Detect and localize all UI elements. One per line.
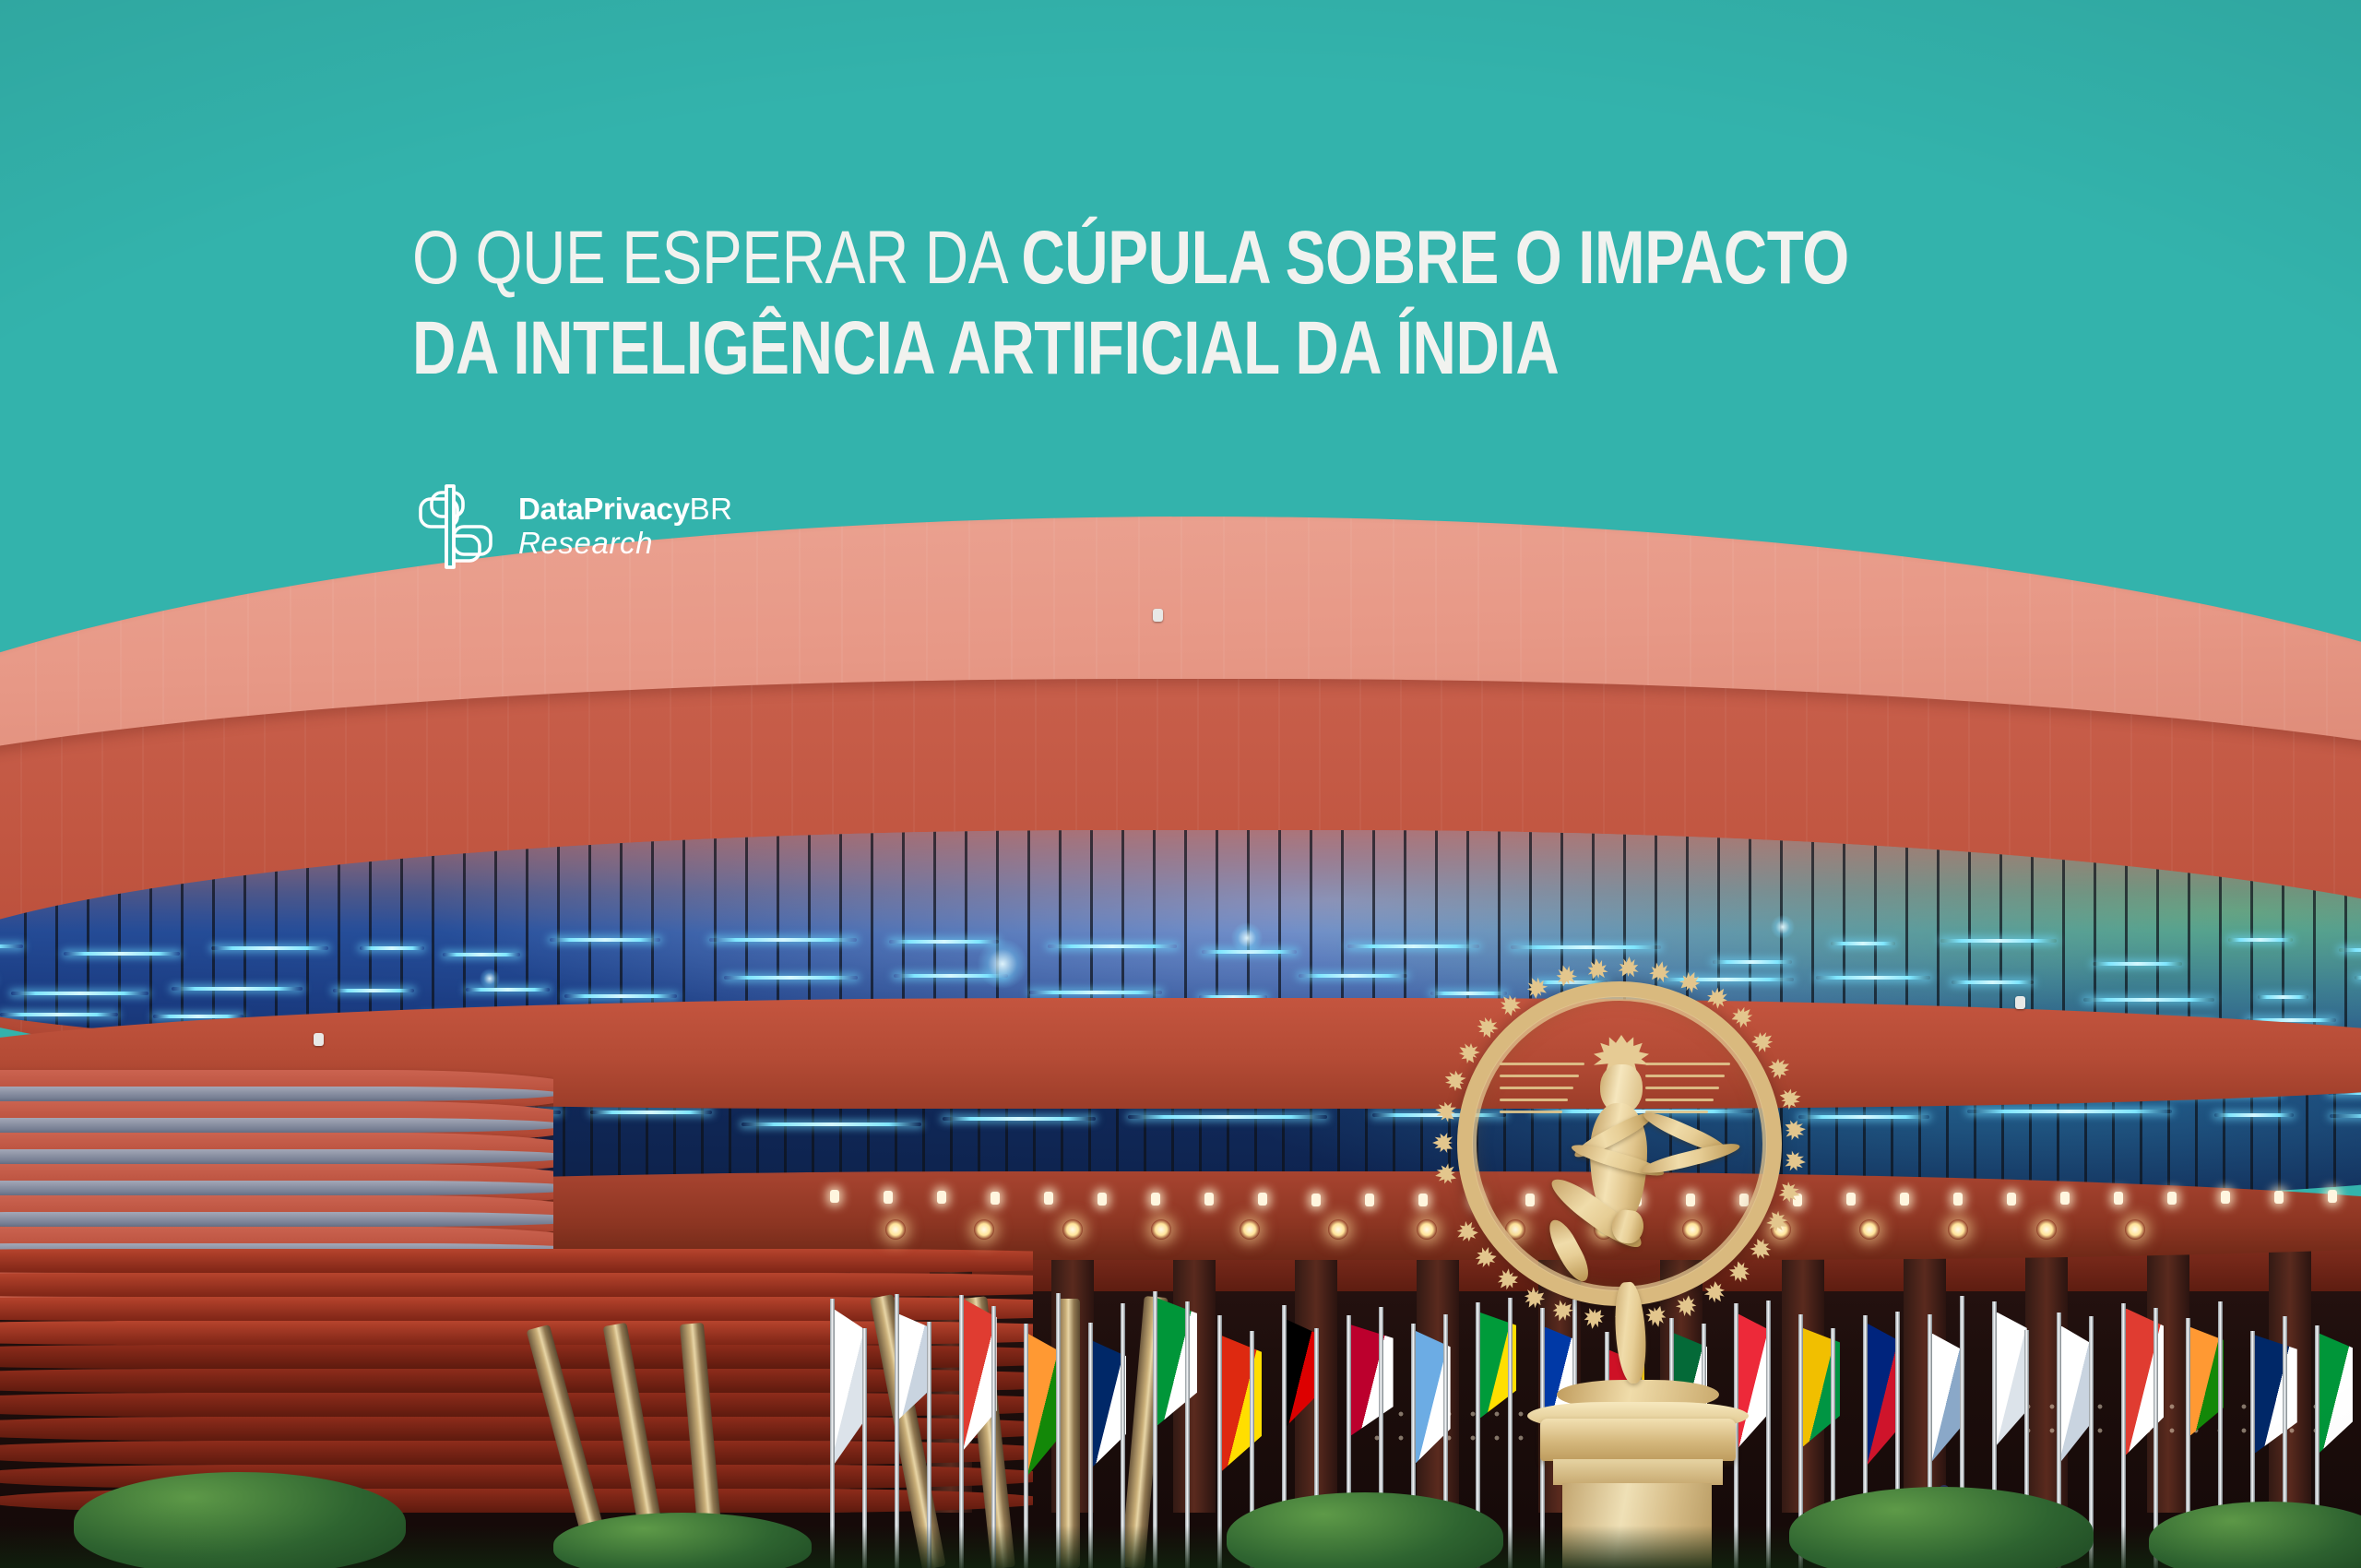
nose-glazing-slit [0, 1181, 553, 1195]
halo-flame [1553, 962, 1579, 988]
plaza-downlight [2125, 1219, 2145, 1240]
halo-flame [1441, 1067, 1466, 1093]
glass-led-strip [2093, 962, 2182, 966]
nose-glazing-slit [0, 1149, 553, 1164]
eave-light [2167, 1192, 2177, 1205]
page-title-line-2: DA INTELIGÊNCIA ARTIFICIAL DA ÍNDIA [412, 310, 1740, 387]
nose-glazing-slit [0, 1118, 553, 1133]
halo-flame [1677, 968, 1703, 995]
glass-led-strip [1048, 944, 1177, 948]
national-flag [2319, 1334, 2353, 1453]
statue-hair-strand [1645, 1063, 1730, 1065]
glass-led-strip [889, 940, 999, 944]
glass-led-strip [1816, 976, 1931, 980]
glass-led-strip [1940, 939, 2057, 943]
eave-light [1097, 1193, 1107, 1206]
halo-flame [1644, 1305, 1668, 1329]
glass-specular-highlight [1231, 922, 1263, 954]
glass-specular-highlight [1771, 915, 1795, 939]
glass-led-strip [1952, 980, 2034, 984]
halo-flame [1748, 1235, 1776, 1264]
halo-flame [1785, 1150, 1807, 1172]
statue-hair-strand [1645, 1099, 1714, 1101]
glass-led-strip [1029, 991, 1163, 994]
foreground-shrub [74, 1472, 406, 1568]
plaza-downlight [974, 1219, 994, 1240]
national-flag [1028, 1334, 1059, 1475]
eave-light [1846, 1193, 1856, 1206]
halo-flame [1702, 1278, 1729, 1306]
statue-pedestal-middle [1553, 1459, 1723, 1485]
eave-light [1204, 1193, 1214, 1206]
halo-flame [1432, 1133, 1453, 1153]
glass-led-strip [1347, 944, 1478, 948]
statue-hair-strand [1645, 1075, 1725, 1077]
eave-light [1311, 1194, 1321, 1206]
halo-flame [1726, 1259, 1754, 1288]
national-flag [2126, 1309, 2164, 1455]
logo-word-dataprivacy: DataPrivacy [518, 492, 690, 526]
halo-flame [1786, 1119, 1808, 1141]
plaza-downlight [1328, 1219, 1348, 1240]
nataraja-statue [1431, 963, 1828, 1568]
eave-light [2060, 1192, 2070, 1205]
national-flag [899, 1314, 928, 1420]
eave-light [884, 1191, 893, 1204]
roof-fixture [2015, 996, 2025, 1009]
nose-glazing-slit [0, 1212, 553, 1227]
glass-led-strip [2355, 976, 2361, 980]
glass-led-strip [2330, 1114, 2361, 1118]
dataprivacybr-mark-icon [417, 482, 498, 571]
logo-wordmark-line-1: DataPrivacyBR [518, 493, 732, 525]
national-flag [1351, 1324, 1394, 1435]
halo-flame [1433, 1099, 1457, 1123]
glass-led-strip [2214, 1113, 2294, 1117]
glass-led-strip [709, 938, 857, 942]
logo-word-br: BR [690, 492, 733, 526]
halo-flame [1549, 1299, 1575, 1324]
halo-flame [1648, 959, 1672, 983]
halo-flame [1454, 1038, 1482, 1065]
glass-led-strip [1831, 942, 1896, 945]
eave-light [2328, 1190, 2337, 1203]
eave-light [991, 1192, 1000, 1205]
glass-led-strip [590, 1111, 711, 1114]
halo-flame [1493, 1266, 1522, 1295]
glass-led-strip [724, 976, 858, 980]
plaza-downlight [1948, 1219, 1968, 1240]
glass-led-strip [742, 1123, 921, 1126]
eave-light [937, 1191, 946, 1204]
plaza-downlight [1240, 1219, 1260, 1240]
statue-hair-strand [1500, 1111, 1562, 1113]
halo-flame [1453, 1218, 1480, 1246]
national-flag [1932, 1334, 1961, 1462]
national-flag [2255, 1335, 2297, 1453]
glass-led-strip [2258, 995, 2308, 999]
halo-flame [1674, 1294, 1701, 1321]
page-title-line-1: O QUE ESPERAR DA CÚPULA SOBRE O IMPACTO [412, 220, 1740, 297]
nose-glazing-slit [0, 1087, 553, 1101]
statue-pedestal-top [1540, 1419, 1736, 1461]
glass-led-strip [2228, 938, 2294, 942]
plaza-downlight [2036, 1219, 2057, 1240]
statue-hair-strand [1500, 1075, 1579, 1077]
statue-hair-strand [1500, 1087, 1573, 1089]
eave-light [1418, 1194, 1428, 1206]
national-flag [1868, 1324, 1899, 1465]
eave-light [1900, 1193, 1909, 1206]
eave-light [830, 1190, 839, 1203]
eave-light [1258, 1193, 1267, 1206]
eave-light [2274, 1191, 2284, 1204]
glass-led-strip [1967, 1110, 2172, 1113]
glass-led-strip [2339, 948, 2361, 952]
page-title-emphasis-2: DA INTELIGÊNCIA ARTIFICIAL DA ÍNDIA [412, 306, 1559, 390]
national-flag [1157, 1298, 1197, 1425]
plaza-downlight [1062, 1219, 1083, 1240]
glass-led-strip [943, 1117, 1096, 1121]
eave-light [1151, 1193, 1160, 1206]
building-left-nose [0, 793, 553, 1310]
eave-light [2221, 1191, 2230, 1204]
plaza-downlight [885, 1219, 906, 1240]
eave-light [2007, 1193, 2016, 1206]
eave-light [1953, 1193, 1963, 1206]
page-title-lead: O QUE ESPERAR DA [412, 216, 1021, 300]
poster-canvas: O QUE ESPERAR DA CÚPULA SOBRE O IMPACTO … [0, 0, 2361, 1568]
national-flag [835, 1310, 862, 1464]
eave-light [1365, 1194, 1374, 1206]
statue-hair-strand [1645, 1087, 1719, 1089]
glass-led-strip [564, 994, 677, 998]
national-flag [1287, 1320, 1314, 1426]
page-title-emphasis-1: CÚPULA SOBRE O IMPACTO [1021, 216, 1849, 300]
statue-hair-strand [1500, 1063, 1584, 1065]
plaza-downlight [1859, 1219, 1880, 1240]
glass-led-strip [1128, 1115, 1326, 1119]
logo-word-research: Research [518, 527, 732, 560]
eave-light [1044, 1192, 1053, 1205]
halo-flame [1750, 1027, 1778, 1055]
national-flag [1997, 1313, 2027, 1445]
halo-flame [1523, 973, 1550, 1001]
glass-led-strip [550, 938, 660, 942]
glass-led-strip [1299, 974, 1407, 978]
roof-fixture [1153, 609, 1163, 622]
glass-led-strip [2083, 998, 2214, 1002]
halo-flame [1433, 1163, 1456, 1186]
national-flag [1222, 1336, 1262, 1470]
halo-flame [1778, 1086, 1803, 1111]
halo-flame [1704, 982, 1733, 1011]
statue-hair-strand [1500, 1099, 1568, 1101]
glass-specular-highlight [978, 939, 1027, 989]
halo-flame [1777, 1180, 1802, 1205]
page-title: O QUE ESPERAR DA CÚPULA SOBRE O IMPACTO … [412, 220, 2072, 386]
halo-flame [1520, 1285, 1548, 1313]
eave-light [2114, 1192, 2123, 1205]
logo-wordmark: DataPrivacyBR Research [518, 493, 732, 561]
soffit-fin [0, 1249, 1033, 1273]
halo-flame [1766, 1055, 1793, 1082]
national-flag [2061, 1326, 2089, 1462]
plaza-downlight [1151, 1219, 1171, 1240]
glass-led-strip [1511, 945, 1661, 949]
dataprivacybr-logo: DataPrivacyBR Research [417, 482, 732, 571]
halo-flame [1582, 1307, 1605, 1330]
halo-flame [1764, 1209, 1791, 1236]
